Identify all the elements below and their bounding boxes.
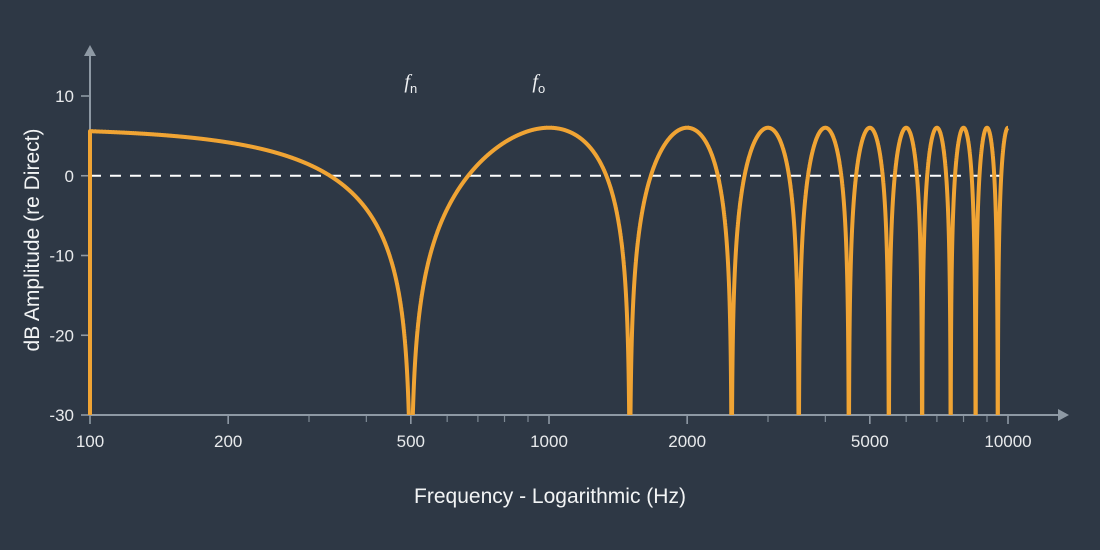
chart-figure: 10020050010002000500010000 100-10-20-30 … <box>0 0 1100 550</box>
x-tick-label: 1000 <box>530 432 568 451</box>
comb-filter-plot: 10020050010002000500010000 100-10-20-30 … <box>0 0 1100 550</box>
x-tick-label: 500 <box>397 432 425 451</box>
y-tick-label: -20 <box>49 326 74 345</box>
x-axis-ticks <box>90 415 1008 424</box>
x-tick-label: 100 <box>76 432 104 451</box>
figure-background <box>0 0 1100 550</box>
y-tick-label: 0 <box>65 167 74 186</box>
x-tick-label: 5000 <box>851 432 889 451</box>
y-axis-title: dB Amplitude (re Direct) <box>21 129 44 352</box>
x-tick-label: 200 <box>214 432 242 451</box>
y-tick-label: 10 <box>55 87 74 106</box>
y-tick-label: -10 <box>49 247 74 266</box>
x-axis-tick-labels: 10020050010002000500010000 <box>76 432 1032 451</box>
y-tick-label: -30 <box>49 406 74 425</box>
x-tick-label: 10000 <box>984 432 1031 451</box>
x-axis-title: Frequency - Logarithmic (Hz) <box>414 485 686 508</box>
x-tick-label: 2000 <box>668 432 706 451</box>
